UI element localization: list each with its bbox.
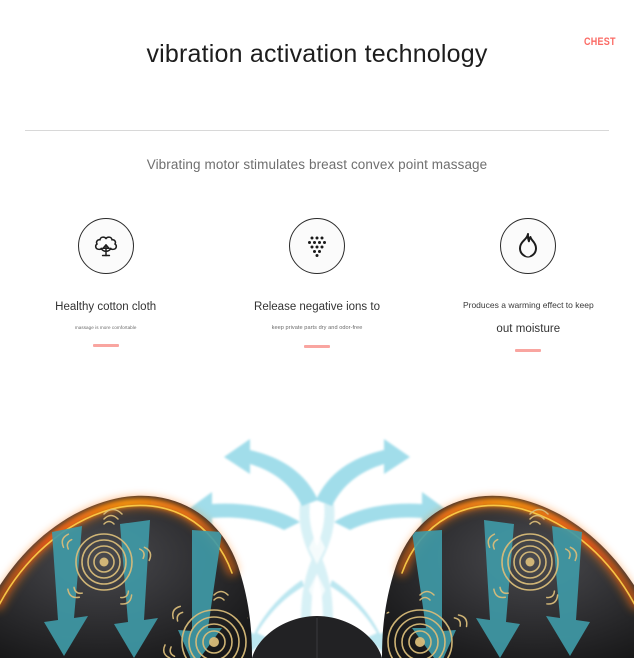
corner-category-tag: CHEST (584, 36, 616, 48)
feature-list: Healthy cotton cloth massage is more com… (0, 218, 634, 352)
center-gore (252, 616, 382, 658)
product-illustration (0, 404, 634, 658)
feature-subtitle: out moisture (496, 323, 560, 335)
feature-subtitle: keep private parts dry and odor-free (272, 325, 363, 331)
page-subtitle: Vibrating motor stimulates breast convex… (0, 157, 634, 172)
page-header: vibration activation technology CHEST (0, 0, 634, 128)
feature-title: Release negative ions to (254, 300, 380, 315)
feature-item-negative-ions: Release negative ions to keep private pa… (211, 218, 422, 352)
negative-ion-dots-icon (289, 218, 345, 274)
feature-item-cotton: Healthy cotton cloth massage is more com… (0, 218, 211, 352)
feature-item-warming: Produces a warming effect to keep out mo… (423, 218, 634, 352)
feature-subtitle: massage is more comfortable (75, 325, 137, 330)
feature-title: Healthy cotton cloth (55, 300, 156, 315)
feature-accent-dash (515, 349, 541, 352)
page-title: vibration activation technology (0, 40, 634, 69)
product-feature-page: vibration activation technology CHEST Vi… (0, 0, 634, 658)
feature-accent-dash (93, 344, 119, 347)
flame-icon (500, 218, 556, 274)
cotton-flower-icon (78, 218, 134, 274)
bra-cup-right (368, 496, 634, 658)
feature-accent-dash (304, 345, 330, 348)
feature-title: Produces a warming effect to keep (463, 300, 594, 311)
bra-cup-left (0, 496, 263, 658)
header-divider (25, 130, 609, 131)
